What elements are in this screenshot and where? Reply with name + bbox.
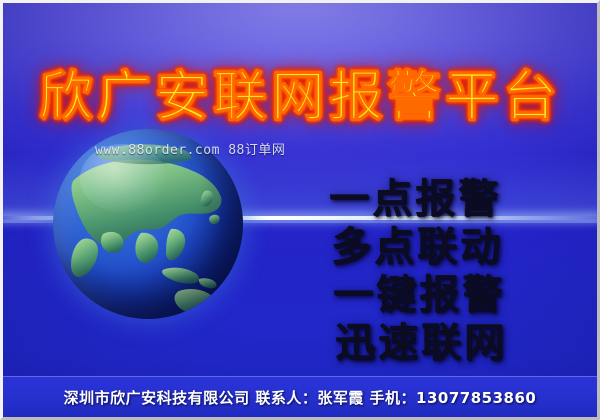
slogan-line-1: 一点报警 (329, 175, 549, 223)
slogan-line-4: 迅速联网 (329, 319, 549, 367)
slogan-line-3: 一键报警 (329, 271, 549, 319)
watermark-text: www.88order.com 88订单网 (95, 139, 285, 158)
footer-contact-bar: 深圳市欣广安科技有限公司 联系人：张军霞 手机：13077853860 (3, 376, 597, 417)
page-title: 欣广安联网报警平台 (3, 65, 597, 129)
slogan-block: 一点报警 多点联动 一键报警 迅速联网 (329, 175, 549, 367)
slogan-line-2: 多点联动 (329, 223, 549, 271)
promotional-banner: 欣广安联网报警平台 www.88order.com 88订单网 一点报警 多点联… (0, 0, 600, 420)
footer-contact-text: 深圳市欣广安科技有限公司 联系人：张军霞 手机：13077853860 (64, 387, 537, 408)
